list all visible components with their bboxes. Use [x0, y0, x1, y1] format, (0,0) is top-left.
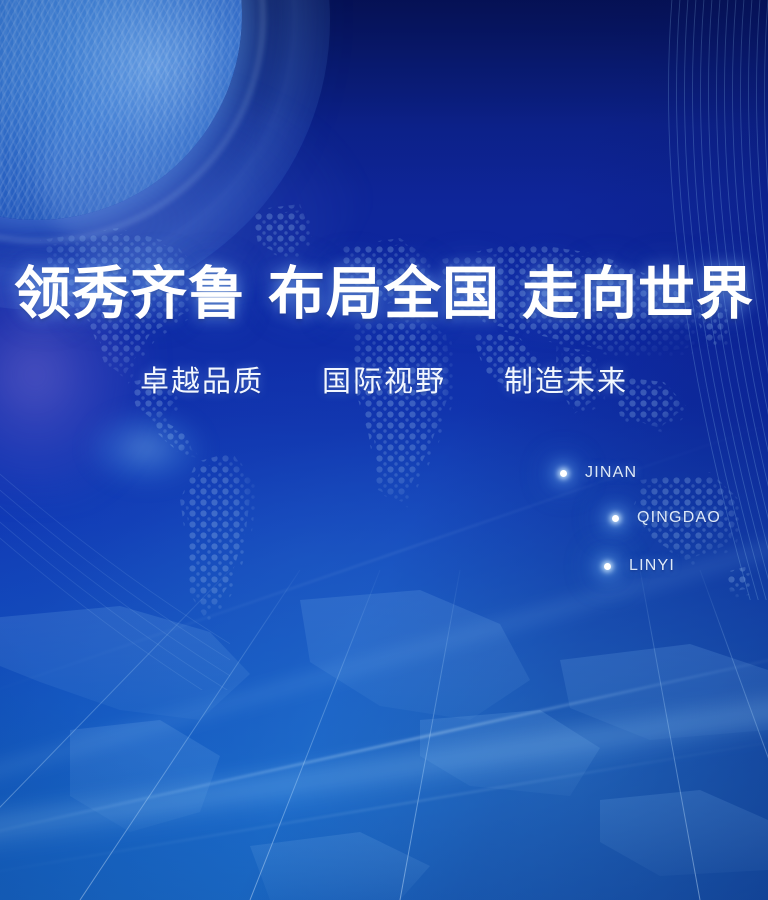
city-label-qingdao: QINGDAO — [637, 509, 721, 527]
banner-content: 领秀齐鲁布局全国走向世界 卓越品质国际视野制造未来 JINAN QINGDAO … — [0, 0, 768, 900]
subhead-part-3: 制造未来 — [504, 366, 628, 398]
promo-banner: 领秀齐鲁布局全国走向世界 卓越品质国际视野制造未来 JINAN QINGDAO … — [0, 0, 768, 900]
headline-part-3: 走向世界 — [522, 263, 754, 326]
location-dot-icon — [612, 515, 619, 522]
city-marker-jinan[interactable]: JINAN — [560, 464, 637, 482]
subhead-part-2: 国际视野 — [322, 366, 446, 398]
headline-part-1: 领秀齐鲁 — [14, 263, 246, 326]
city-label-jinan: JINAN — [585, 464, 637, 482]
subhead-part-1: 卓越品质 — [140, 366, 264, 398]
city-marker-qingdao[interactable]: QINGDAO — [612, 509, 721, 527]
location-dot-icon — [604, 563, 611, 570]
page-title: 领秀齐鲁布局全国走向世界 — [0, 266, 768, 323]
headline-part-2: 布局全国 — [268, 263, 500, 326]
city-label-linyi: LINYI — [629, 557, 675, 575]
page-subtitle: 卓越品质国际视野制造未来 — [0, 368, 768, 397]
city-marker-linyi[interactable]: LINYI — [604, 557, 675, 575]
location-dot-icon — [560, 470, 567, 477]
